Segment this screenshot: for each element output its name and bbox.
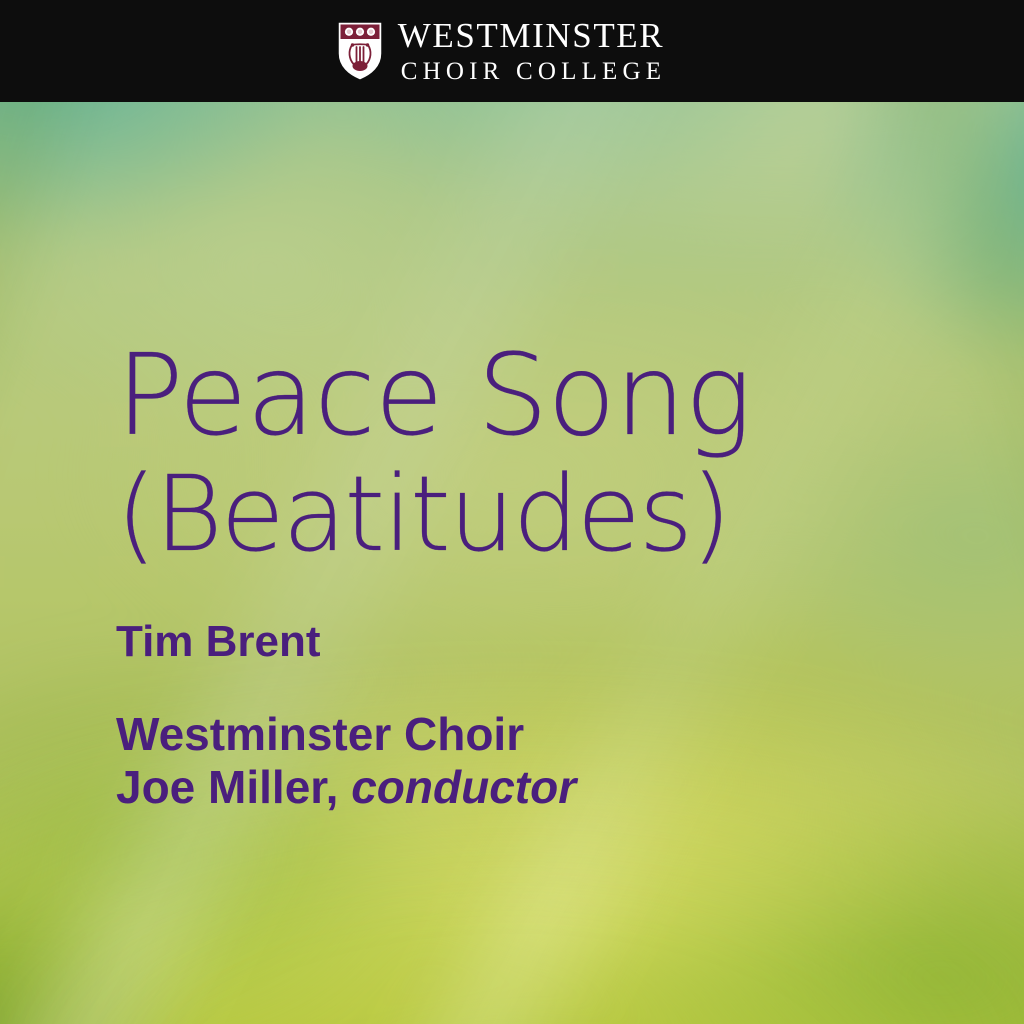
composer-name: Tim Brent [116, 620, 751, 664]
album-cover: WESTMINSTER CHOIR COLLEGE Peace Song (Be… [0, 0, 1024, 1024]
cover-text-block: Peace Song (Beatitudes) Tim Brent Westmi… [116, 340, 751, 815]
performer-credits: Westminster Choir Joe Miller, conductor [116, 708, 751, 815]
logo-wordmark: WESTMINSTER CHOIR COLLEGE [396, 18, 667, 84]
westminster-choir-college-logo: WESTMINSTER CHOIR COLLEGE [338, 18, 667, 84]
conductor-role: conductor [351, 761, 576, 813]
conductor-credit: Joe Miller, conductor [116, 761, 751, 814]
album-subtitle: (Beatitudes) [116, 462, 751, 566]
westminster-shield-icon [338, 22, 382, 80]
album-title: Peace Song [116, 340, 751, 452]
ensemble-name: Westminster Choir [116, 708, 751, 761]
logo-line-westminster: WESTMINSTER [398, 18, 664, 53]
conductor-name: Joe Miller, [116, 761, 338, 813]
header-bar: WESTMINSTER CHOIR COLLEGE [0, 0, 1024, 102]
logo-line-choir-college: CHOIR COLLEGE [396, 59, 667, 84]
